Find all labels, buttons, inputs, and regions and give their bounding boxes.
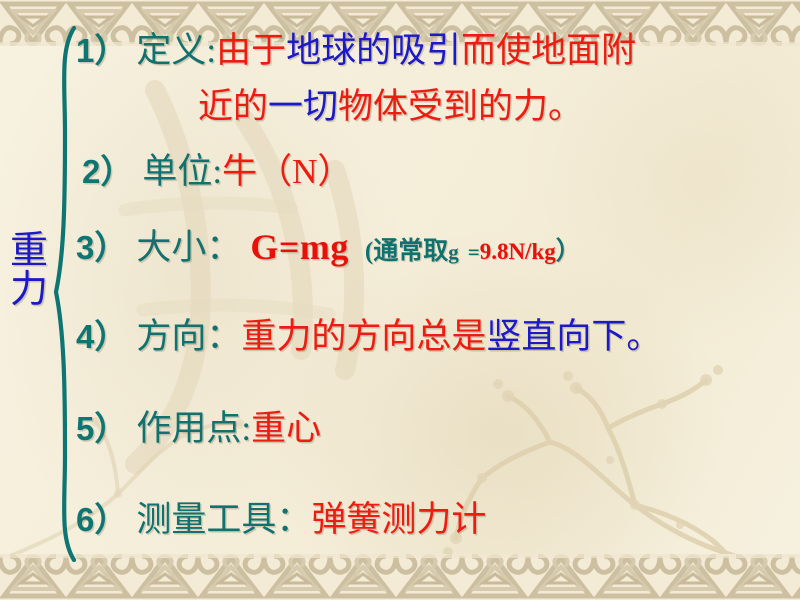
definition-part-b: 地球的吸引 — [286, 31, 461, 70]
g-note-close: ） — [556, 238, 581, 265]
item-term-2: 单位: — [142, 152, 222, 191]
item-number-1: 1） — [76, 32, 127, 69]
list-item-magnitude: 3）大小：G=mg(通常取g=9.8N/kg） — [76, 219, 581, 270]
list-item-direction: 4）方向：重力的方向总是竖直向下。 — [76, 308, 661, 359]
item-term-3: 大小： — [136, 228, 241, 267]
g-note-equals: = — [468, 240, 480, 264]
direction-value-blue: 竖直向下。 — [486, 317, 661, 356]
item-number-2: 2） — [82, 153, 133, 190]
item-number-4: 4） — [76, 318, 127, 355]
unit-value: 牛（N） — [222, 152, 352, 191]
list-item-unit: 2）单位:牛（N） — [82, 143, 352, 194]
list-item-measuring-tool: 6）测量工具：弹簧测力计 — [76, 491, 486, 542]
application-point-value: 重心 — [251, 409, 321, 448]
g-note-open: (通常取 — [365, 238, 448, 265]
item-number-5: 5） — [76, 410, 127, 447]
g-note-symbol: g — [448, 240, 459, 264]
topic-label-char-1: 重 — [6, 232, 52, 271]
slide-canvas: 重 力 1）定义:由于地球的吸引而使地面附 近的一切物体受到的力。 2）单位:牛… — [0, 0, 800, 600]
item-term-6: 测量工具： — [136, 500, 311, 539]
gravity-formula: G=mg — [250, 227, 349, 267]
direction-value-red: 重力的方向总是 — [241, 317, 486, 356]
topic-label: 重 力 — [6, 232, 52, 310]
list-item-definition-line2: 近的一切物体受到的力。 — [198, 78, 583, 129]
item-number-3: 3） — [76, 229, 127, 266]
definition-part-f: 物体受到的力。 — [338, 87, 583, 126]
list-item-application-point: 5）作用点:重心 — [76, 400, 321, 451]
definition-part-c: 而使地面附 — [461, 31, 636, 70]
g-note-value: 9.8N/kg — [480, 239, 556, 264]
definition-part-d: 近的 — [198, 87, 268, 126]
list-item-definition: 1）定义:由于地球的吸引而使地面附 — [76, 22, 636, 73]
definition-part-a: 由于 — [216, 31, 286, 70]
measuring-tool-value: 弹簧测力计 — [311, 500, 486, 539]
item-term-1: 定义: — [136, 31, 216, 70]
definition-part-e: 一切 — [268, 87, 338, 126]
item-term-4: 方向： — [136, 317, 241, 356]
item-number-6: 6） — [76, 501, 127, 538]
topic-label-char-2: 力 — [6, 271, 52, 310]
content-list: 1）定义:由于地球的吸引而使地面附 近的一切物体受到的力。 2）单位:牛（N） … — [70, 0, 800, 600]
item-term-5: 作用点: — [136, 409, 251, 448]
